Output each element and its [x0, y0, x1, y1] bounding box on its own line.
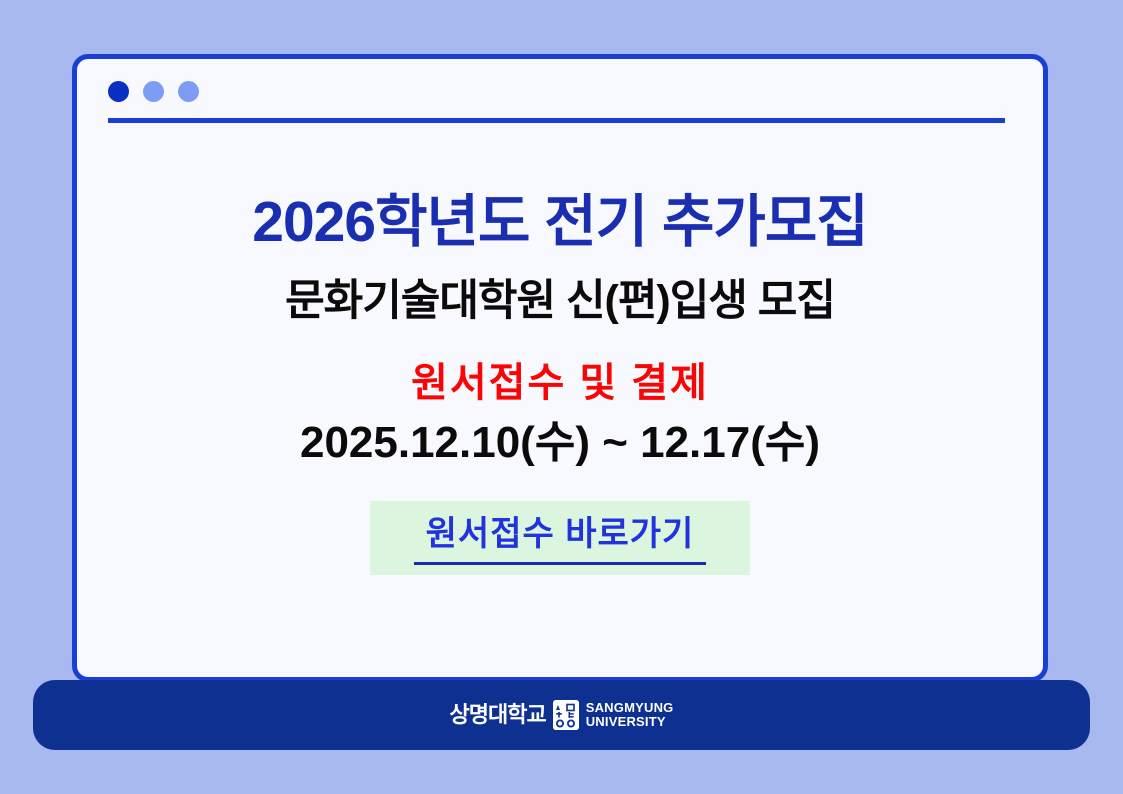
apply-link-underline [414, 562, 706, 565]
university-name-en: SANGMYUNG UNIVERSITY [586, 701, 674, 728]
poster-content: 2026학년도 전기 추가모집 문화기술대학원 신(편)입생 모집 원서접수 및… [77, 129, 1043, 687]
university-footer-bar: 상명대학교 SANGMYUNG UNIVERSITY [33, 680, 1090, 750]
maximize-dot-icon[interactable] [178, 81, 199, 102]
university-name-ko: 상명대학교 [450, 704, 546, 726]
browser-window-card: 2026학년도 전기 추가모집 문화기술대학원 신(편)입생 모집 원서접수 및… [72, 54, 1048, 682]
apply-link-label: 원서접수 바로가기 [414, 515, 706, 554]
application-period-text: 2025.12.10(수) ~ 12.17(수) [77, 405, 1043, 467]
apply-link-button[interactable]: 원서접수 바로가기 [370, 501, 750, 575]
browser-titlebar [77, 59, 1043, 129]
poster-canvas: 2026학년도 전기 추가모집 문화기술대학원 신(편)입생 모집 원서접수 및… [0, 0, 1123, 794]
titlebar-divider [108, 118, 1005, 123]
sangmyung-emblem-icon [553, 700, 579, 730]
window-controls [108, 81, 199, 102]
university-logo: 상명대학교 SANGMYUNG UNIVERSITY [450, 700, 674, 730]
minimize-dot-icon[interactable] [143, 81, 164, 102]
application-emphasis-text: 원서접수 및 결제 [77, 325, 1043, 405]
page-title: 2026학년도 전기 추가모집 [77, 129, 1043, 254]
university-name-en-line2: UNIVERSITY [586, 715, 674, 729]
close-dot-icon[interactable] [108, 81, 129, 102]
cta-container: 원서접수 바로가기 [77, 467, 1043, 575]
page-subtitle: 문화기술대학원 신(편)입생 모집 [77, 254, 1043, 325]
university-name-en-line1: SANGMYUNG [586, 701, 674, 715]
